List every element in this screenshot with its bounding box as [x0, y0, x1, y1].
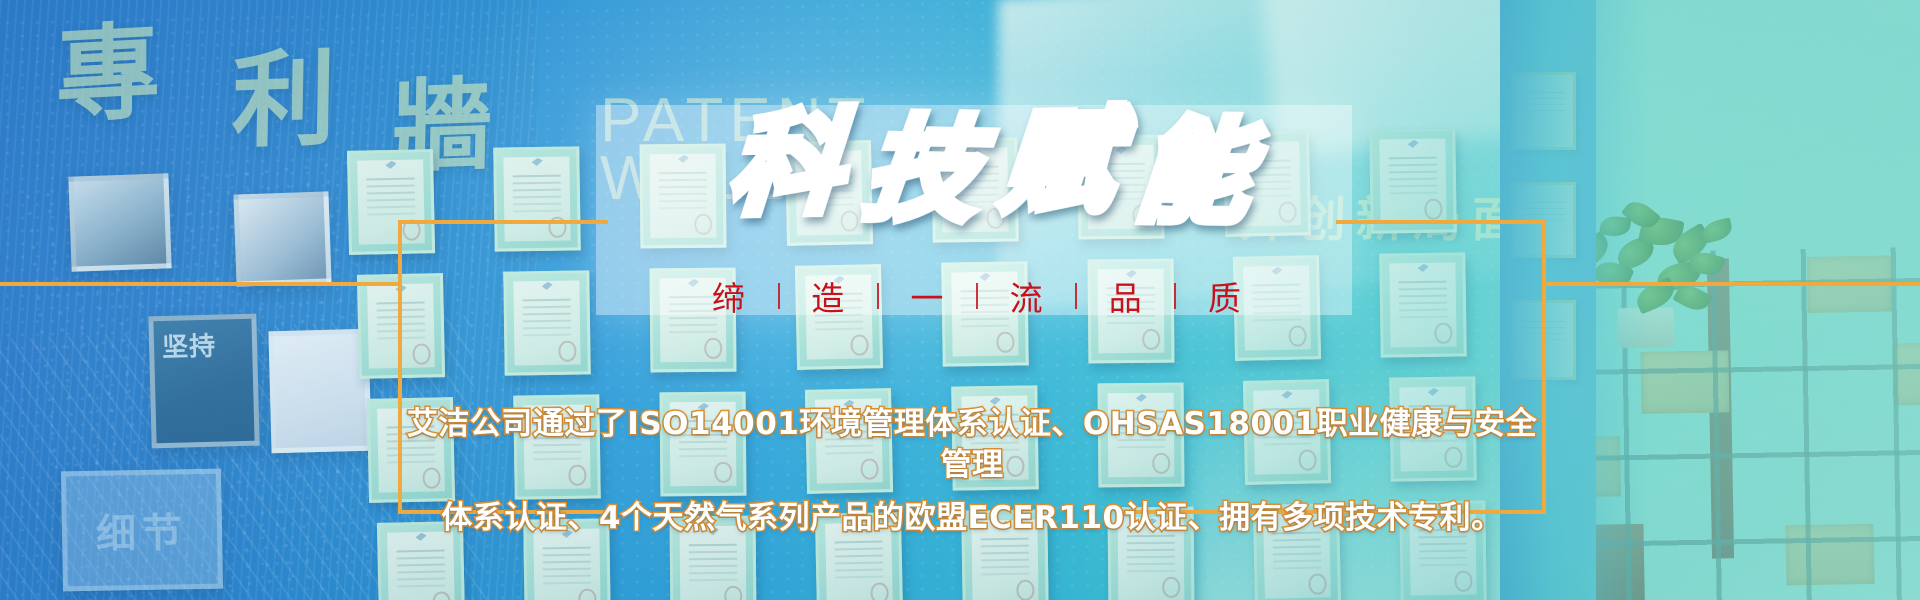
headline-char-3: 赋: [997, 106, 1119, 220]
slogan-row: 缔 造 一 流 品 质: [712, 272, 1242, 320]
slogan-char-1: 缔: [712, 272, 746, 320]
body-copy-line-1: 艾洁公司通过了ISO14001环境管理体系认证、OHSAS18001职业健康与安…: [398, 404, 1546, 486]
slogan-char-2: 造: [811, 272, 845, 320]
slogan-separator: [976, 283, 978, 309]
slogan-char-5: 品: [1109, 272, 1143, 320]
patent-wall-banner: 專 利 牆 PATENT WALL 开创新局面 坚持 细节: [0, 0, 1920, 600]
body-copy-line-2: 体系认证、4个天然气系列产品的欧盟ECER110认证、拥有多项技术专利。: [398, 498, 1546, 539]
headline-char-2: 技: [860, 114, 984, 228]
slogan-char-6: 质: [1208, 272, 1242, 320]
slogan-separator: [877, 283, 879, 309]
slogan-char-4: 流: [1010, 272, 1044, 320]
headline-title: 科 技 赋 能: [730, 100, 1250, 230]
slogan-separator: [1075, 283, 1077, 309]
slogan-separator: [778, 283, 780, 309]
body-copy: 艾洁公司通过了ISO14001环境管理体系认证、OHSAS18001职业健康与安…: [398, 404, 1546, 539]
slogan-char-3: 一: [910, 272, 944, 320]
slogan-separator: [1174, 283, 1176, 309]
accent-rule-right: [1544, 282, 1920, 286]
headline-char-4: 能: [1132, 116, 1254, 230]
accent-rule-left: [0, 282, 402, 286]
headline-char-1: 科: [726, 108, 846, 222]
